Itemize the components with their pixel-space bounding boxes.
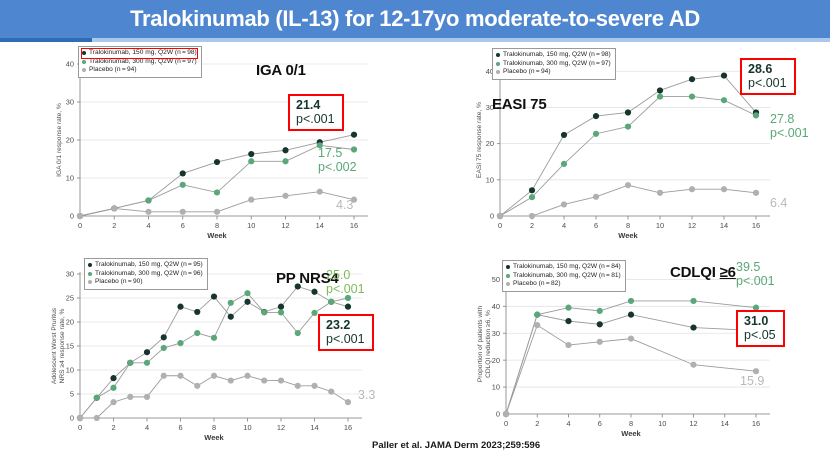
data-point (721, 186, 727, 192)
legend-marker-icon (496, 53, 500, 57)
x-tick-label: 14 (316, 221, 324, 230)
y-tick-label: 10 (66, 366, 74, 375)
legend-label: Tralokinumab, 300 mg, Q2W (n = 96) (95, 270, 203, 279)
data-point (529, 187, 535, 193)
data-point (625, 124, 631, 130)
legend-marker-icon (88, 272, 92, 276)
data-point (282, 158, 288, 164)
legend-marker-icon (496, 70, 500, 74)
series-line (80, 293, 348, 418)
x-tick-label: 12 (688, 221, 696, 230)
data-point (180, 209, 186, 215)
annotation-value: 17.5 (318, 146, 357, 160)
citation-text: Paller et al. JAMA Derm 2023;259:596 (372, 440, 540, 451)
data-point (248, 151, 254, 157)
y-tick-label: 10 (492, 383, 500, 392)
data-point (628, 336, 634, 342)
plot-area-easi: 0102030400246810121416EASI 75 response r… (440, 46, 824, 246)
data-point (534, 312, 540, 318)
x-tick-label: 6 (594, 221, 598, 230)
annotation-value: 39.5 (736, 260, 775, 274)
y-tick-label: 0 (70, 414, 74, 423)
chart-panel-iga: 0102030400246810121416IGA 0/1 response r… (18, 46, 424, 246)
x-tick-label: 0 (498, 221, 502, 230)
data-point (244, 299, 250, 305)
x-tick-label: 6 (181, 221, 185, 230)
annotation-value: 27.8 (770, 112, 809, 126)
data-point (214, 159, 220, 165)
legend-label: Placebo (n = 94) (503, 68, 551, 77)
data-point (753, 112, 759, 118)
title-underbar-highlight (92, 38, 830, 42)
legend-item-2: Placebo (n = 82) (506, 280, 621, 289)
data-point (77, 213, 83, 219)
data-point (248, 197, 254, 203)
x-axis-label: Week (40, 433, 388, 442)
y-tick-label: 0 (70, 212, 74, 221)
legend-marker-icon (506, 282, 510, 286)
annotation-nrs-0: 25.0p<.001 (326, 268, 365, 296)
annotation-pvalue: p<.001 (326, 282, 365, 296)
data-point (721, 72, 727, 78)
legend-marker-icon (506, 274, 510, 278)
data-point (177, 340, 183, 346)
data-point (211, 373, 217, 379)
x-tick-label: 6 (598, 419, 602, 428)
data-point (144, 394, 150, 400)
data-point (690, 324, 696, 330)
x-tick-label: 12 (689, 419, 697, 428)
data-point (94, 415, 100, 421)
y-tick-label: 50 (492, 275, 500, 284)
data-point (753, 190, 759, 196)
legend-item-0: Tralokinumab, 150 mg, Q2W (n = 98) (82, 49, 197, 58)
legend-label: Placebo (n = 82) (513, 280, 561, 289)
data-point (689, 186, 695, 192)
x-tick-label: 10 (243, 423, 251, 432)
annotation-easi-1: 27.8p<.001 (770, 112, 809, 140)
annotation-value: 31.0 (744, 314, 776, 328)
data-point (328, 389, 334, 395)
data-point (278, 377, 284, 383)
x-tick-label: 0 (78, 221, 82, 230)
y-tick-label: 20 (66, 318, 74, 327)
data-point (690, 298, 696, 304)
data-point (211, 293, 217, 299)
data-point (228, 377, 234, 383)
data-point (534, 322, 540, 328)
chart-legend: Tralokinumab, 150 mg, Q2W (n = 98)Tralok… (492, 48, 616, 80)
y-tick-label: 30 (66, 270, 74, 279)
x-tick-label: 16 (344, 423, 352, 432)
annotation-pvalue: p<.05 (744, 328, 776, 342)
data-point (77, 415, 83, 421)
data-point (597, 339, 603, 345)
series-line (80, 135, 354, 216)
data-point (144, 349, 150, 355)
legend-label: Tralokinumab, 150 mg, Q2W (n = 98) (503, 51, 611, 60)
y-axis-label: Adolescent Worst Pruritus NRS ≥4 respons… (51, 271, 65, 421)
x-tick-label: 4 (146, 221, 150, 230)
x-tick-label: 6 (178, 423, 182, 432)
legend-marker-icon (82, 68, 86, 72)
annotation-pvalue: p<.002 (318, 160, 357, 174)
y-tick-label: 30 (492, 329, 500, 338)
data-point (161, 345, 167, 351)
data-point (282, 147, 288, 153)
data-point (529, 194, 535, 200)
annotation-easi-0: 28.6p<.001 (740, 58, 796, 95)
x-axis-label: Week (40, 231, 394, 240)
x-tick-label: 4 (562, 221, 566, 230)
data-point (497, 213, 503, 219)
y-tick-label: 25 (66, 294, 74, 303)
data-point (351, 132, 357, 138)
x-tick-label: 8 (629, 419, 633, 428)
data-point (597, 321, 603, 327)
data-point (261, 377, 267, 383)
chart-title-iga: IGA 0/1 (256, 62, 306, 79)
annotation-value: 15.9 (740, 374, 764, 388)
plot-area-cdlqi: 010203040500246810121416Proportion of pa… (440, 252, 824, 452)
y-tick-label: 5 (70, 390, 74, 399)
data-point (503, 411, 509, 417)
x-tick-label: 10 (656, 221, 664, 230)
data-point (111, 205, 117, 211)
annotation-cdlqi-1: 31.0p<.05 (736, 310, 785, 347)
x-tick-label: 16 (350, 221, 358, 230)
data-point (657, 93, 663, 99)
annotation-pvalue: p<.001 (296, 112, 335, 126)
data-point (278, 309, 284, 315)
data-point (180, 170, 186, 176)
x-axis-label: Week (460, 231, 796, 240)
data-point (657, 190, 663, 196)
x-tick-label: 4 (566, 419, 570, 428)
legend-item-0: Tralokinumab, 150 mg, Q2W (n = 95) (88, 261, 203, 270)
x-tick-label: 14 (721, 419, 729, 428)
annotation-value: 6.4 (770, 196, 787, 210)
legend-marker-icon (496, 62, 500, 66)
data-point (593, 113, 599, 119)
data-point (311, 310, 317, 316)
data-point (194, 330, 200, 336)
data-point (689, 76, 695, 82)
data-point (127, 394, 133, 400)
y-tick-label: 0 (490, 212, 494, 221)
x-tick-label: 2 (530, 221, 534, 230)
x-axis-label: Week (466, 429, 796, 438)
chart-panel-easi: 0102030400246810121416EASI 75 response r… (440, 46, 824, 246)
data-point (689, 93, 695, 99)
annotation-easi-2: 6.4 (770, 196, 787, 210)
plot-area-iga: 0102030400246810121416IGA 0/1 response r… (18, 46, 424, 246)
slide-root: Tralokinumab (IL-13) for 12-17yo moderat… (0, 0, 830, 462)
y-tick-label: 40 (492, 302, 500, 311)
data-point (244, 373, 250, 379)
annotation-value: 21.4 (296, 98, 335, 112)
data-point (317, 189, 323, 195)
data-point (295, 330, 301, 336)
data-point (94, 395, 100, 401)
data-point (282, 193, 288, 199)
data-point (690, 362, 696, 368)
x-tick-label: 12 (277, 423, 285, 432)
legend-item-1: Tralokinumab, 300 mg, Q2W (n = 96) (88, 270, 203, 279)
data-point (561, 132, 567, 138)
legend-marker-icon (82, 60, 86, 64)
chart-title-cdlqi: CDLQI ≥6 (670, 264, 736, 281)
x-tick-label: 8 (212, 423, 216, 432)
annotation-pvalue: p<.001 (736, 274, 775, 288)
data-point (214, 209, 220, 215)
data-point (657, 87, 663, 93)
data-point (211, 335, 217, 341)
x-tick-label: 14 (310, 423, 318, 432)
data-point (565, 305, 571, 311)
annotation-nrs-2: 3.3 (358, 388, 375, 402)
series-line (80, 286, 348, 418)
legend-label: Tralokinumab, 150 mg, Q2W (n = 98) (89, 49, 197, 58)
data-point (194, 383, 200, 389)
x-tick-label: 2 (535, 419, 539, 428)
data-point (597, 308, 603, 314)
data-point (628, 312, 634, 318)
data-point (529, 213, 535, 219)
data-point (565, 342, 571, 348)
annotation-pvalue: p<.001 (748, 76, 787, 90)
annotation-iga-0: 21.4p<.001 (288, 94, 344, 131)
legend-marker-icon (88, 280, 92, 284)
data-point (561, 161, 567, 167)
annotation-value: 25.0 (326, 268, 365, 282)
chart-legend: Tralokinumab, 150 mg, Q2W (n = 98)Tralok… (78, 46, 202, 78)
legend-label: Tralokinumab, 300 mg, Q2W (n = 97) (89, 58, 197, 67)
y-axis-label: Proportion of patients with CDLQI reduct… (477, 269, 491, 419)
page-title: Tralokinumab (IL-13) for 12-17yo moderat… (130, 6, 700, 32)
legend-marker-icon (82, 51, 86, 55)
data-point (177, 373, 183, 379)
data-point (561, 201, 567, 207)
data-point (161, 373, 167, 379)
slide-title-bar: Tralokinumab (IL-13) for 12-17yo moderat… (0, 0, 830, 38)
legend-item-0: Tralokinumab, 150 mg, Q2W (n = 98) (496, 51, 611, 60)
data-point (593, 194, 599, 200)
data-point (721, 97, 727, 103)
y-axis-label: IGA 0/1 response rate, % (56, 65, 70, 215)
x-tick-label: 0 (78, 423, 82, 432)
chart-title-easi: EASI 75 (492, 96, 546, 113)
data-point (593, 131, 599, 137)
data-point (145, 197, 151, 203)
legend-item-0: Tralokinumab, 150 mg, Q2W (n = 84) (506, 263, 621, 272)
annotation-value: 23.2 (326, 318, 365, 332)
data-point (180, 182, 186, 188)
data-point (228, 300, 234, 306)
data-point (261, 309, 267, 315)
annotation-cdlqi-0: 39.5p<.001 (736, 260, 775, 288)
legend-item-1: Tralokinumab, 300 mg, Q2W (n = 97) (496, 60, 611, 69)
legend-label: Tralokinumab, 300 mg, Q2W (n = 81) (513, 272, 621, 281)
legend-label: Tralokinumab, 300 mg, Q2W (n = 97) (503, 60, 611, 69)
data-point (625, 182, 631, 188)
annotation-pvalue: p<.001 (326, 332, 365, 346)
legend-marker-icon (506, 265, 510, 269)
annotation-iga-2: 4.3 (336, 198, 353, 212)
data-point (345, 304, 351, 310)
annotation-value: 28.6 (748, 62, 787, 76)
data-point (110, 399, 116, 405)
legend-item-1: Tralokinumab, 300 mg, Q2W (n = 97) (82, 58, 197, 67)
y-tick-label: 0 (496, 410, 500, 419)
series-line (500, 185, 756, 216)
x-tick-label: 2 (111, 423, 115, 432)
data-point (110, 385, 116, 391)
legend-item-2: Placebo (n = 90) (88, 278, 203, 287)
annotation-value: 4.3 (336, 198, 353, 212)
legend-label: Tralokinumab, 150 mg, Q2W (n = 84) (513, 263, 621, 272)
x-tick-label: 8 (215, 221, 219, 230)
data-point (248, 158, 254, 164)
y-axis-label: EASI 75 response rate, % (476, 65, 490, 215)
data-point (177, 304, 183, 310)
chart-legend: Tralokinumab, 150 mg, Q2W (n = 84)Tralok… (502, 260, 626, 292)
legend-item-1: Tralokinumab, 300 mg, Q2W (n = 81) (506, 272, 621, 281)
y-tick-label: 20 (492, 356, 500, 365)
legend-label: Placebo (n = 94) (89, 66, 137, 75)
series-line (506, 301, 756, 414)
x-tick-label: 14 (720, 221, 728, 230)
data-point (110, 375, 116, 381)
plot-area-nrs4: 0510152025300246810121416Adolescent Wors… (18, 252, 424, 452)
data-point (144, 360, 150, 366)
annotation-nrs-1: 23.2p<.001 (318, 314, 374, 351)
data-point (345, 399, 351, 405)
data-point (228, 314, 234, 320)
legend-label: Tralokinumab, 150 mg, Q2W (n = 95) (95, 261, 203, 270)
legend-marker-icon (88, 263, 92, 267)
data-point (295, 383, 301, 389)
data-point (311, 289, 317, 295)
data-point (214, 189, 220, 195)
data-point (278, 304, 284, 310)
chart-panel-nrs4: 0510152025300246810121416Adolescent Wors… (18, 252, 424, 452)
data-point (628, 298, 634, 304)
data-point (145, 209, 151, 215)
data-point (311, 383, 317, 389)
x-tick-label: 4 (145, 423, 149, 432)
data-point (127, 360, 133, 366)
data-point (625, 109, 631, 115)
x-tick-label: 2 (112, 221, 116, 230)
series-line (80, 145, 354, 216)
x-tick-label: 10 (658, 419, 666, 428)
chart-legend: Tralokinumab, 150 mg, Q2W (n = 95)Tralok… (84, 258, 208, 290)
data-point (244, 290, 250, 296)
annotation-value: 3.3 (358, 388, 375, 402)
x-tick-label: 10 (247, 221, 255, 230)
x-tick-label: 0 (504, 419, 508, 428)
annotation-cdlqi-2: 15.9 (740, 374, 764, 388)
x-tick-label: 12 (281, 221, 289, 230)
legend-item-2: Placebo (n = 94) (82, 66, 197, 75)
x-tick-label: 8 (626, 221, 630, 230)
data-point (565, 318, 571, 324)
data-point (194, 309, 200, 315)
chart-panel-cdlqi: 010203040500246810121416Proportion of pa… (440, 252, 824, 452)
legend-item-2: Placebo (n = 94) (496, 68, 611, 77)
x-tick-label: 16 (752, 221, 760, 230)
x-tick-label: 16 (752, 419, 760, 428)
legend-label: Placebo (n = 90) (95, 278, 143, 287)
y-tick-label: 15 (66, 342, 74, 351)
series-line (80, 376, 348, 418)
annotation-pvalue: p<.001 (770, 126, 809, 140)
data-point (161, 334, 167, 340)
annotation-iga-1: 17.5p<.002 (318, 146, 357, 174)
data-point (328, 299, 334, 305)
